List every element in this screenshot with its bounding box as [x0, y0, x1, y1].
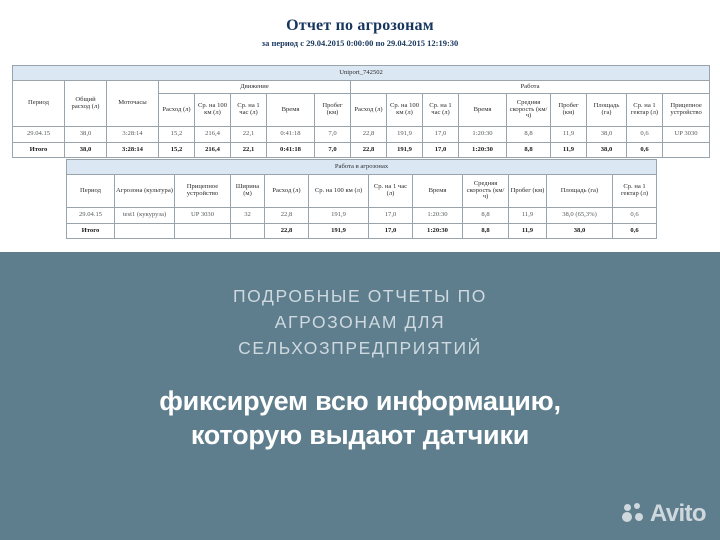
table1-group-movement: Движение	[159, 81, 351, 94]
cell	[115, 224, 175, 239]
cell: 17,0	[369, 208, 413, 224]
table2-col-time: Время	[413, 175, 463, 208]
cell: 3:28:14	[107, 143, 159, 158]
cell: 7,0	[315, 127, 351, 143]
agrozone-table: Работа в агрозонах Период Агрозона (куль…	[66, 159, 657, 239]
table2-band-row: Работа в агрозонах	[67, 160, 657, 175]
cell: 216,4	[195, 143, 231, 158]
promo-kicker: ПОДРОБНЫЕ ОТЧЕТЫ ПО АГРОЗОНАМ ДЛЯ СЕЛЬХО…	[0, 284, 720, 362]
cell	[231, 224, 265, 239]
cell: 38,0	[587, 143, 627, 158]
table1-col-wk-avgspeed: Средняя скорость (км/ч)	[507, 94, 551, 127]
table1-col-mv-perhour: Ср. на 1 час (л)	[231, 94, 267, 127]
cell: 22,8	[265, 208, 309, 224]
cell: test1 (кукуруза)	[115, 208, 175, 224]
cell: 38,0	[547, 224, 613, 239]
table1-col-mv-fuel: Расход (л)	[159, 94, 195, 127]
cell: 191,9	[309, 224, 369, 239]
cell: 29.04.15	[67, 208, 115, 224]
table1-group-row: Период Общий расход (л) Моточасы Движени…	[13, 81, 710, 94]
cell: 1:20:30	[413, 224, 463, 239]
table2-col-period: Период	[67, 175, 115, 208]
table2-col-agrozone: Агрозона (культура)	[115, 175, 175, 208]
cell: 22,1	[231, 127, 267, 143]
table1-col-mv-per100: Ср. на 100 км (л)	[195, 94, 231, 127]
cell: 32	[231, 208, 265, 224]
promo-headline-line: фиксируем всю информацию,	[0, 384, 720, 418]
promo-kicker-line: ПОДРОБНЫЕ ОТЧЕТЫ ПО	[0, 284, 720, 310]
cell: 216,4	[195, 127, 231, 143]
table-row: 29.04.15 38,0 3:28:14 15,2 216,4 22,1 0:…	[13, 127, 710, 143]
cell: 38,0	[65, 143, 107, 158]
table1-col-wk-perhectare: Ср. на 1 гектар (л)	[627, 94, 663, 127]
table1-band-row: Uniport_742502	[13, 66, 710, 81]
table1-col-engine-hours: Моточасы	[107, 81, 159, 127]
cell: 0,6	[627, 143, 663, 158]
cell: 38,0	[587, 127, 627, 143]
table1-col-wk-time: Время	[459, 94, 507, 127]
table1-col-wk-fuel: Расход (л)	[351, 94, 387, 127]
table2-col-implement: Прицепное устройство	[175, 175, 231, 208]
cell: 191,9	[387, 143, 423, 158]
cell: 8,8	[463, 208, 509, 224]
slide-root: Отчет по агрозонам за период с 29.04.201…	[0, 0, 720, 540]
promo-kicker-line: СЕЛЬХОЗПРЕДПРИЯТИЙ	[0, 336, 720, 362]
table2-col-area: Площадь (га)	[547, 175, 613, 208]
cell: 11,9	[509, 224, 547, 239]
cell: 15,2	[159, 127, 195, 143]
avito-wordmark: Avito	[650, 502, 706, 526]
cell: Итого	[67, 224, 115, 239]
promo-panel: ПОДРОБНЫЕ ОТЧЕТЫ ПО АГРОЗОНАМ ДЛЯ СЕЛЬХО…	[0, 252, 720, 540]
cell: 191,9	[387, 127, 423, 143]
promo-kicker-line: АГРОЗОНАМ ДЛЯ	[0, 310, 720, 336]
cell: 191,9	[309, 208, 369, 224]
cell: Итого	[13, 143, 65, 158]
report-title: Отчет по агрозонам	[0, 17, 720, 35]
table2-band-title: Работа в агрозонах	[67, 160, 657, 175]
cell: 11,9	[551, 143, 587, 158]
table2-col-avgspeed: Средняя скорость (км/ч)	[463, 175, 509, 208]
table1-col-wk-area: Площадь (га)	[587, 94, 627, 127]
cell: 17,0	[423, 127, 459, 143]
cell: UP 3030	[175, 208, 231, 224]
table-row-total: Итого 38,0 3:28:14 15,2 216,4 22,1 0:41:…	[13, 143, 710, 158]
cell: 15,2	[159, 143, 195, 158]
cell: 22,8	[351, 143, 387, 158]
table1-col-wk-distance: Пробег (км)	[551, 94, 587, 127]
table1-col-total-fuel: Общий расход (л)	[65, 81, 107, 127]
cell: UP 3030	[663, 127, 710, 143]
cell: 8,8	[463, 224, 509, 239]
table1-col-mv-time: Время	[267, 94, 315, 127]
table2-header-row: Период Агрозона (культура) Прицепное уст…	[67, 175, 657, 208]
cell: 11,9	[551, 127, 587, 143]
table1-col-period: Период	[13, 81, 65, 127]
cell: 17,0	[369, 224, 413, 239]
promo-headline: фиксируем всю информацию, которую выдают…	[0, 384, 720, 452]
avito-watermark: Avito	[622, 502, 706, 526]
cell: 0:41:18	[267, 127, 315, 143]
cell: 8,8	[507, 143, 551, 158]
table2-col-distance: Пробег (км)	[509, 175, 547, 208]
report-subtitle: за период с 29.04.2015 0:00:00 по 29.04.…	[0, 38, 720, 48]
cell: 22,8	[265, 224, 309, 239]
avito-dots-icon	[622, 503, 646, 525]
cell: 0,6	[613, 208, 657, 224]
cell: 7,0	[315, 143, 351, 158]
table1-group-work: Работа	[351, 81, 710, 94]
cell: 17,0	[423, 143, 459, 158]
cell: 3:28:14	[107, 127, 159, 143]
cell: 1:20:30	[413, 208, 463, 224]
table2-col-perhectare: Ср. на 1 гектар (л)	[613, 175, 657, 208]
table-row: 29.04.15 test1 (кукуруза) UP 3030 32 22,…	[67, 208, 657, 224]
report-area: Отчет по агрозонам за период с 29.04.201…	[0, 0, 720, 252]
cell: 29.04.15	[13, 127, 65, 143]
table2-col-fuel: Расход (л)	[265, 175, 309, 208]
cell: 0,6	[613, 224, 657, 239]
cell: 38,0 (65,3%)	[547, 208, 613, 224]
cell: 0:41:18	[267, 143, 315, 158]
table1-band-title: Uniport_742502	[13, 66, 710, 81]
cell	[663, 143, 710, 158]
summary-table: Uniport_742502 Период Общий расход (л) М…	[12, 65, 710, 158]
cell: 22,1	[231, 143, 267, 158]
table2-col-perhour: Ср. на 1 час (л)	[369, 175, 413, 208]
cell	[175, 224, 231, 239]
cell: 38,0	[65, 127, 107, 143]
cell: 0,6	[627, 127, 663, 143]
table2-col-width: Ширина (м)	[231, 175, 265, 208]
cell: 11,9	[509, 208, 547, 224]
table2-col-per100: Ср. на 100 км (л)	[309, 175, 369, 208]
table1-col-mv-distance: Пробег (км)	[315, 94, 351, 127]
table1-col-wk-per100: Ср. на 100 км (л)	[387, 94, 423, 127]
cell: 1:20:30	[459, 143, 507, 158]
promo-headline-line: которую выдают датчики	[0, 418, 720, 452]
cell: 22,8	[351, 127, 387, 143]
table1-col-wk-perhour: Ср. на 1 час (л)	[423, 94, 459, 127]
table-row-total: Итого 22,8 191,9 17,0 1:20:30 8,8 11,9 3…	[67, 224, 657, 239]
cell: 1:20:30	[459, 127, 507, 143]
cell: 8,8	[507, 127, 551, 143]
table1-col-implement: Прицепное устройство	[663, 94, 710, 127]
